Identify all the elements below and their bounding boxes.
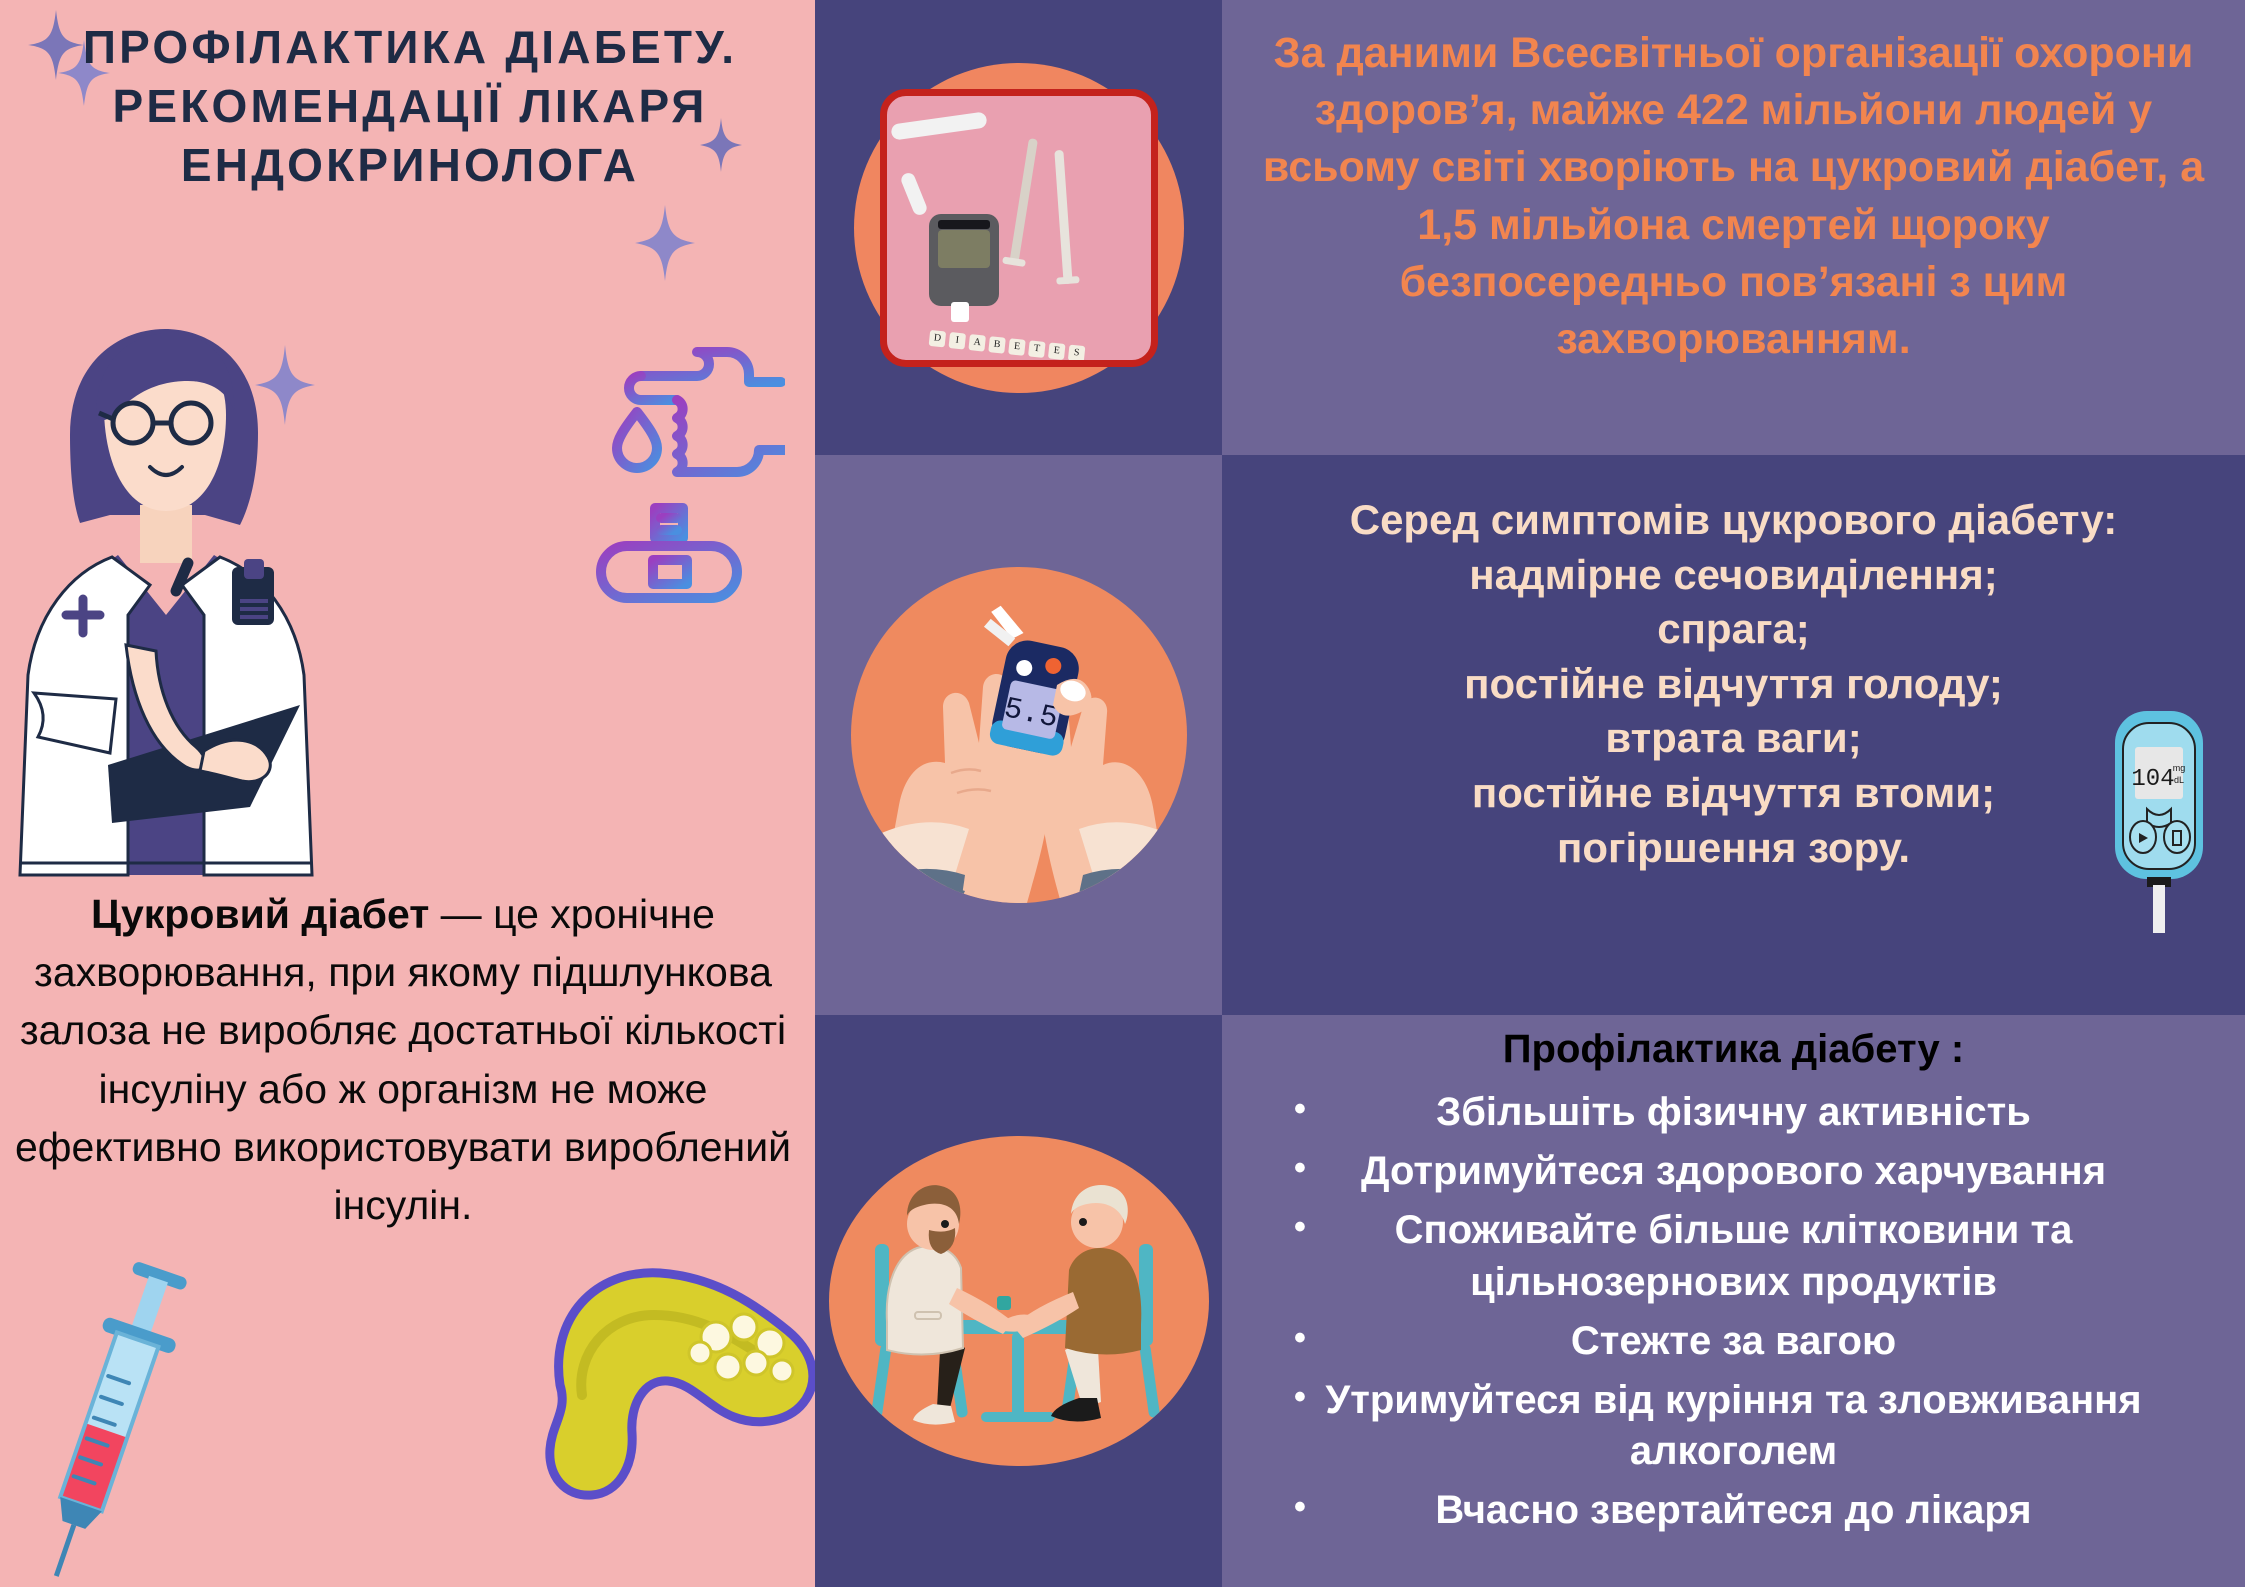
lead-bold: Цукровий діабет — [91, 891, 429, 937]
symptoms-heading: Серед симптомів цукрового діабету: — [1252, 493, 2215, 548]
list-item: Збільшіть фізичну активність — [1242, 1087, 2225, 1146]
page-title: ПРОФІЛАКТИКА ДІАБЕТУ. РЕКОМЕНДАЦІЇ ЛІКАР… — [30, 18, 790, 195]
pancreas-icon — [520, 1245, 815, 1515]
photo-glucometer — [929, 214, 999, 306]
lead-paragraph: Цукровий діабет — це хронічне захворюван… — [8, 885, 798, 1234]
svg-text:mg: mg — [2173, 763, 2186, 773]
list-item: Вчасно звертайтеся до лікаря — [1242, 1485, 2225, 1544]
row1-photo-circle: DIABETES — [854, 63, 1184, 393]
doctor-testing-elderly-patient-illustration — [829, 1136, 1209, 1466]
list-item: Стежте за вагою — [1242, 1316, 2225, 1375]
row2-image-cell: 5.5 — [815, 455, 1222, 1015]
left-sidebar: ПРОФІЛАКТИКА ДІАБЕТУ. РЕКОМЕНДАЦІЇ ЛІКАР… — [0, 0, 815, 1587]
list-item: Утримуйтеся від куріння та зловживання а… — [1242, 1375, 2225, 1485]
sparkle-icon — [635, 205, 695, 281]
symptom-item: постійне відчуття голоду; — [1252, 657, 2215, 712]
svg-text:dL: dL — [2174, 775, 2184, 785]
symptoms-block: Серед симптомів цукрового діабету: надмі… — [1252, 493, 2215, 875]
list-item: Дотримуйтеся здорового харчування — [1242, 1146, 2225, 1205]
sparkle-icon — [255, 345, 315, 425]
syringe-icon — [20, 1255, 200, 1585]
symptom-item: погіршення зору. — [1252, 821, 2215, 876]
row2-illustration-circle: 5.5 — [851, 567, 1187, 903]
diabetes-letter-beads: DIABETES — [928, 329, 1085, 361]
row3-illustration-circle — [829, 1136, 1209, 1466]
row1-text-cell: За даними Всесвітньої організації охорон… — [1222, 0, 2245, 455]
deco-meter-value: 104 — [2131, 766, 2174, 793]
infographic-poster: ПРОФІЛАКТИКА ДІАБЕТУ. РЕКОМЕНДАЦІЇ ЛІКАР… — [0, 0, 2245, 1587]
symptom-item: надмірне сечовиділення; — [1252, 548, 2215, 603]
row3-text-cell: Профілактика діабету : Збільшіть фізичну… — [1222, 1015, 2245, 1587]
prevention-list: Збільшіть фізичну активність Дотримуйтес… — [1242, 1087, 2225, 1545]
who-statistic-text: За даними Всесвітньої організації охорон… — [1252, 25, 2215, 368]
list-item: Споживайте більше клітковини та цільнозе… — [1242, 1205, 2225, 1315]
finger-prick-glucometer-icon — [595, 320, 785, 620]
glucometer-syringes-diabetes-photo: DIABETES — [854, 63, 1184, 393]
hands-holding-glucometer-illustration: 5.5 — [851, 567, 1187, 903]
row1-image-cell: DIABETES — [815, 0, 1222, 455]
row3-image-cell — [815, 1015, 1222, 1587]
symptom-item: втрата ваги; — [1252, 711, 2215, 766]
symptom-item: спрага; — [1252, 602, 2215, 657]
prevention-heading: Профілактика діабету : — [1252, 1027, 2215, 1072]
lead-rest: — це хронічне захворювання, при якому пі… — [15, 891, 791, 1228]
row2-text-cell: Серед симптомів цукрового діабету: надмі… — [1222, 455, 2245, 1015]
symptom-item: постійне відчуття втоми; — [1252, 766, 2215, 821]
decorative-glucometer-icon: 104 mg dL — [2105, 705, 2215, 935]
